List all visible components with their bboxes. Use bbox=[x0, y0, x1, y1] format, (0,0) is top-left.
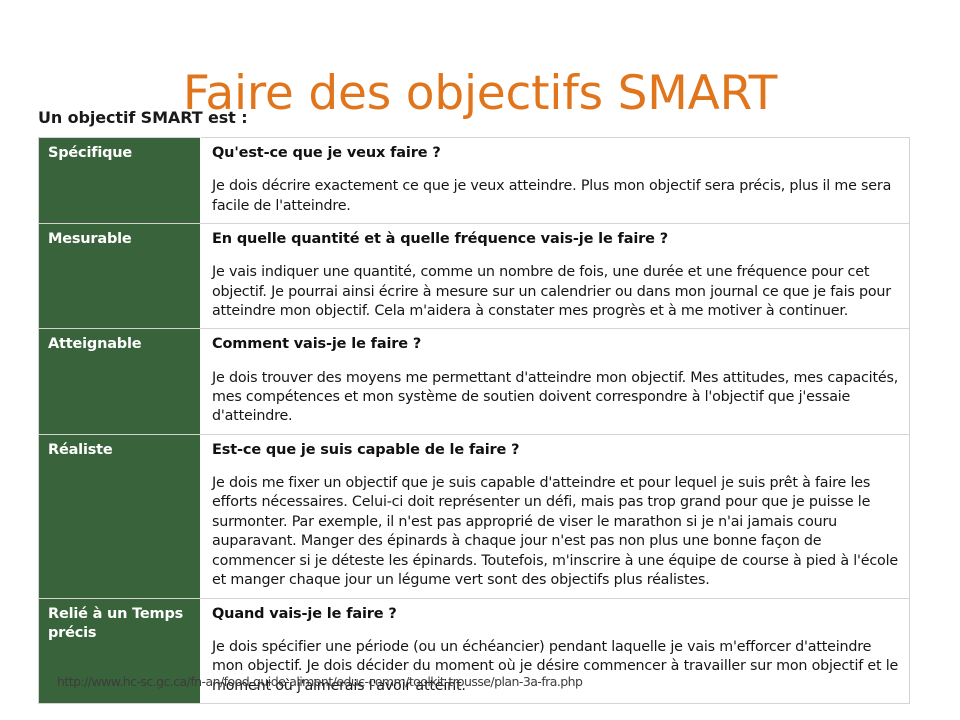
criterion-answer: Je dois trouver des moyens me permettant… bbox=[212, 369, 899, 427]
criterion-label-specifique: Spécifique bbox=[39, 138, 201, 224]
table-row: Mesurable En quelle quantité et à quelle… bbox=[39, 224, 910, 329]
criterion-question: En quelle quantité et à quelle fréquence… bbox=[212, 230, 899, 249]
criterion-body-mesurable: En quelle quantité et à quelle fréquence… bbox=[201, 224, 910, 329]
criterion-answer: Je dois décrire exactement ce que je veu… bbox=[212, 177, 899, 216]
criterion-answer: Je vais indiquer une quantité, comme un … bbox=[212, 263, 899, 321]
criterion-answer: Je dois me fixer un objectif que je suis… bbox=[212, 474, 899, 591]
criterion-question: Quand vais-je le faire ? bbox=[212, 605, 899, 624]
slide-content: Un objectif SMART est : Spécifique Qu'es… bbox=[38, 108, 922, 704]
criterion-label-realiste: Réaliste bbox=[39, 434, 201, 598]
smart-criteria-table: Spécifique Qu'est-ce que je veux faire ?… bbox=[38, 137, 910, 704]
smart-table-body: Spécifique Qu'est-ce que je veux faire ?… bbox=[39, 138, 910, 704]
criterion-body-atteignable: Comment vais-je le faire ? Je dois trouv… bbox=[201, 329, 910, 434]
criterion-label-atteignable: Atteignable bbox=[39, 329, 201, 434]
table-row: Spécifique Qu'est-ce que je veux faire ?… bbox=[39, 138, 910, 224]
criterion-question: Comment vais-je le faire ? bbox=[212, 335, 899, 354]
intro-heading: Un objectif SMART est : bbox=[38, 108, 922, 127]
criterion-label-mesurable: Mesurable bbox=[39, 224, 201, 329]
criterion-body-realiste: Est-ce que je suis capable de le faire ?… bbox=[201, 434, 910, 598]
slide-root: Faire des objectifs SMART Un objectif SM… bbox=[0, 0, 960, 720]
table-row: Réaliste Est-ce que je suis capable de l… bbox=[39, 434, 910, 598]
criterion-question: Qu'est-ce que je veux faire ? bbox=[212, 144, 899, 163]
table-row: Atteignable Comment vais-je le faire ? J… bbox=[39, 329, 910, 434]
criterion-body-specifique: Qu'est-ce que je veux faire ? Je dois dé… bbox=[201, 138, 910, 224]
criterion-question: Est-ce que je suis capable de le faire ? bbox=[212, 441, 899, 460]
source-url-link[interactable]: http://www.hc-sc.gc.ca/fn-an/food-guide-… bbox=[57, 674, 582, 689]
